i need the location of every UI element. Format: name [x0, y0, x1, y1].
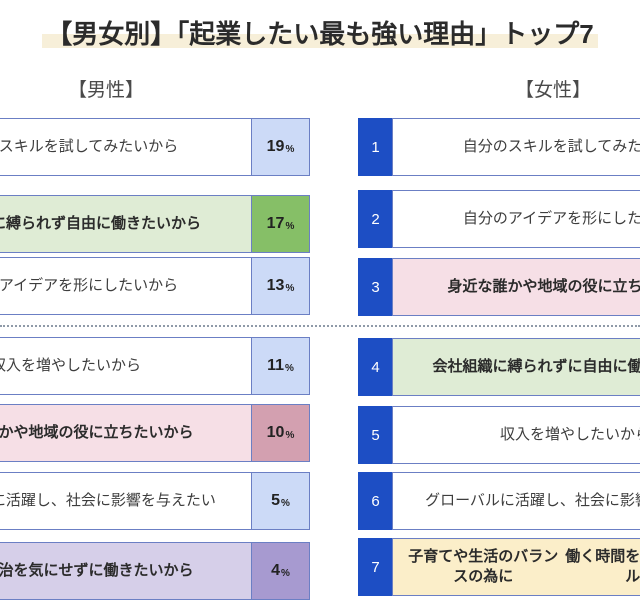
female-rank-badge-6: 6 — [358, 472, 392, 530]
percent-unit: % — [285, 283, 294, 294]
male-percent-value-1: 19 — [267, 138, 285, 156]
male-percent-2: 17% — [252, 195, 310, 253]
male-rank-row-4[interactable]: 収入を増やしたいから 11% — [0, 337, 310, 395]
page-title: 【男女別】「起業したい最も強い理由」トップ7 — [0, 10, 640, 58]
female-rank-row-2[interactable]: 2 自分のアイデアを形にしたいから — [358, 190, 640, 248]
male-percent-3: 13% — [252, 257, 310, 315]
male-rank-row-5[interactable]: 身近な誰かや地域の役に立ちたいから 10% — [0, 404, 310, 462]
column-header-male: 【男性】 — [56, 78, 156, 104]
male-percent-value-4: 11 — [267, 357, 284, 375]
male-percent-value-6: 5 — [271, 492, 280, 510]
female-rank-badge-1: 1 — [358, 118, 392, 176]
female-rank-row-4[interactable]: 4 会社組織に縛られずに自由に働きたいから — [358, 338, 640, 396]
male-reason-label-2: 会社組織に縛られず自由に働きたいから — [0, 195, 252, 253]
female-reason-label-7-line2: 働く時間を自己コントロールしたい — [563, 547, 640, 587]
female-rank-badge-7: 7 — [358, 538, 392, 596]
male-reason-label-3: 自分のアイデアを形にしたいから — [0, 257, 252, 315]
male-reason-label-5: 身近な誰かや地域の役に立ちたいから — [0, 404, 252, 462]
male-reason-label-6: グローバルに活躍し、社会に影響を与えたい — [0, 472, 252, 530]
percent-unit: % — [281, 568, 290, 579]
female-rank-badge-2: 2 — [358, 190, 392, 248]
male-rank-row-1[interactable]: 自分のスキルを試してみたいから 19% — [0, 118, 310, 176]
female-reason-label-7-line1: 子育てや生活のバランスの為に — [403, 547, 563, 587]
male-percent-value-7: 4 — [271, 562, 280, 580]
female-rank-row-3[interactable]: 3 身近な誰かや地域の役に立ちたいから — [358, 258, 640, 316]
male-percent-value-5: 10 — [267, 424, 285, 442]
male-reason-label-7: 会社内政治を気にせずに働きたいから — [0, 542, 252, 600]
male-reason-label-1: 自分のスキルを試してみたいから — [0, 118, 252, 176]
female-rank-row-6[interactable]: 6 グローバルに活躍し、社会に影響を与えたい — [358, 472, 640, 530]
male-reason-label-4: 収入を増やしたいから — [0, 337, 252, 395]
female-reason-label-2: 自分のアイデアを形にしたいから — [392, 190, 640, 248]
male-percent-1: 19% — [252, 118, 310, 176]
female-reason-label-5: 収入を増やしたいから — [392, 406, 640, 464]
percent-unit: % — [285, 221, 294, 232]
female-reason-label-1: 自分のスキルを試してみたいから — [392, 118, 640, 176]
male-rank-row-3[interactable]: 自分のアイデアを形にしたいから 13% — [0, 257, 310, 315]
column-header-female: 【女性】 — [503, 78, 603, 104]
male-percent-5: 10% — [252, 404, 310, 462]
male-percent-6: 5% — [252, 472, 310, 530]
male-percent-7: 4% — [252, 542, 310, 600]
female-rank-row-5[interactable]: 5 収入を増やしたいから — [358, 406, 640, 464]
female-reason-label-7: 子育てや生活のバランスの為に 働く時間を自己コントロールしたい — [392, 538, 640, 596]
male-percent-value-2: 17 — [267, 215, 285, 233]
female-rank-badge-3: 3 — [358, 258, 392, 316]
page-title-text: 【男女別】「起業したい最も強い理由」トップ7 — [46, 17, 593, 51]
percent-unit: % — [285, 144, 294, 155]
female-rank-badge-4: 4 — [358, 338, 392, 396]
male-rank-row-2[interactable]: 会社組織に縛られず自由に働きたいから 17% — [0, 195, 310, 253]
male-percent-4: 11% — [252, 337, 310, 395]
female-reason-label-3: 身近な誰かや地域の役に立ちたいから — [392, 258, 640, 316]
top3-divider — [0, 325, 640, 327]
percent-unit: % — [281, 498, 290, 509]
female-reason-label-4: 会社組織に縛られずに自由に働きたいから — [392, 338, 640, 396]
female-rank-badge-5: 5 — [358, 406, 392, 464]
male-rank-row-6[interactable]: グローバルに活躍し、社会に影響を与えたい 5% — [0, 472, 310, 530]
male-rank-row-7[interactable]: 会社内政治を気にせずに働きたいから 4% — [0, 542, 310, 600]
female-rank-row-1[interactable]: 1 自分のスキルを試してみたいから — [358, 118, 640, 176]
percent-unit: % — [285, 430, 294, 441]
percent-unit: % — [285, 363, 294, 374]
female-reason-label-6: グローバルに活躍し、社会に影響を与えたい — [392, 472, 640, 530]
female-rank-row-7[interactable]: 7 子育てや生活のバランスの為に 働く時間を自己コントロールしたい — [358, 538, 640, 596]
male-percent-value-3: 13 — [267, 277, 285, 295]
